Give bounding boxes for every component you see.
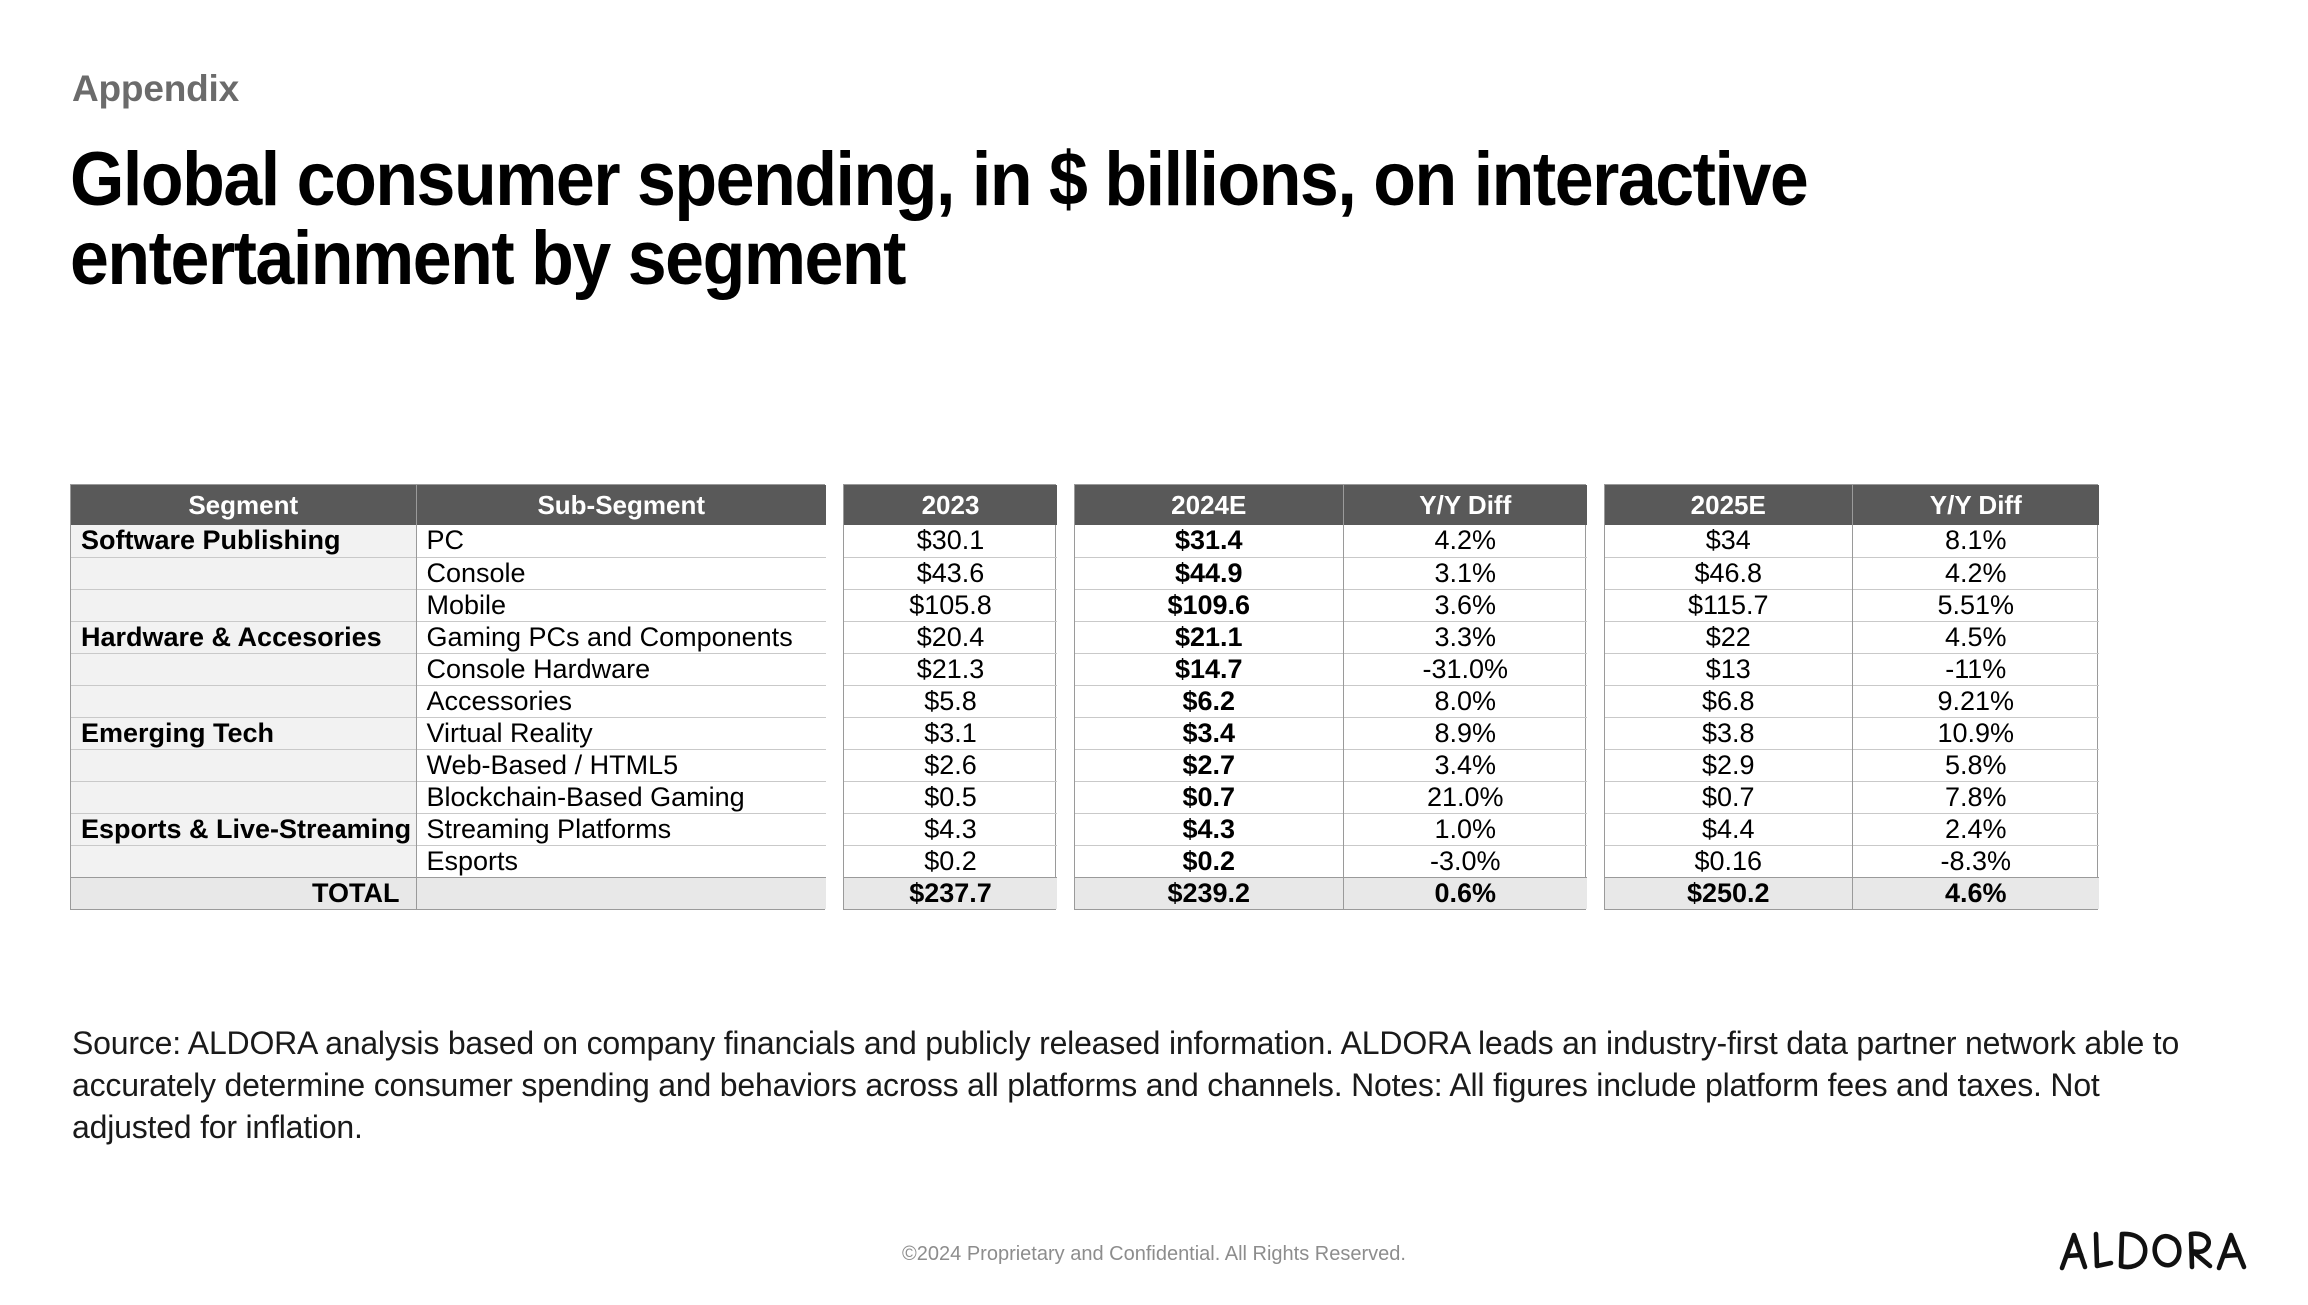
cell-2024e: $0.2 <box>1075 845 1343 877</box>
table-row: $30.1 <box>844 525 1057 557</box>
cell-yy-diff-2025: 10.9% <box>1852 717 2099 749</box>
table-row: Blockchain-Based Gaming <box>71 781 826 813</box>
cell-2023: $4.3 <box>844 813 1057 845</box>
table-header-row: Segment Sub-Segment <box>71 485 826 525</box>
cell-yy-diff-2024: 3.1% <box>1343 557 1587 589</box>
table-row: $115.75.51% <box>1605 589 2099 621</box>
cell-2025e: $13 <box>1605 653 1852 685</box>
table-total-row: $250.24.6% <box>1605 877 2099 909</box>
table-row: $2.73.4% <box>1075 749 1587 781</box>
data-table: Segment Sub-Segment Software PublishingP… <box>70 484 2230 924</box>
cell-yy-diff-2025: -11% <box>1852 653 2099 685</box>
cell-sub-segment: Web-Based / HTML5 <box>416 749 826 781</box>
cell-yy-diff-2024: 21.0% <box>1343 781 1587 813</box>
cell-total-2024e: $239.2 <box>1075 877 1343 909</box>
cell-yy-diff-2025: -8.3% <box>1852 845 2099 877</box>
table-row: $0.77.8% <box>1605 781 2099 813</box>
table-block-2023: 2023 $30.1$43.6$105.8$20.4$21.3$5.8$3.1$… <box>843 484 1056 910</box>
table-row: $6.28.0% <box>1075 685 1587 717</box>
column-header-sub-segment: Sub-Segment <box>416 485 826 525</box>
cell-yy-diff-2024: 1.0% <box>1343 813 1587 845</box>
table-row: Web-Based / HTML5 <box>71 749 826 781</box>
cell-2023: $3.1 <box>844 717 1057 749</box>
table-row: Accessories <box>71 685 826 717</box>
cell-2025e: $0.16 <box>1605 845 1852 877</box>
page-title: Global consumer spending, in $ billions,… <box>70 140 1910 298</box>
cell-total-yy-diff-2025: 4.6% <box>1852 877 2099 909</box>
table-row: $3.1 <box>844 717 1057 749</box>
cell-yy-diff-2025: 5.51% <box>1852 589 2099 621</box>
table-row: $21.13.3% <box>1075 621 1587 653</box>
table-row: Console <box>71 557 826 589</box>
aldora-logo <box>2056 1222 2256 1280</box>
cell-total-sub <box>416 877 826 909</box>
table-row: Mobile <box>71 589 826 621</box>
cell-yy-diff-2024: 3.6% <box>1343 589 1587 621</box>
cell-2023: $0.5 <box>844 781 1057 813</box>
cell-2025e: $0.7 <box>1605 781 1852 813</box>
cell-2023: $30.1 <box>844 525 1057 557</box>
table-body-2025e: $348.1%$46.84.2%$115.75.51%$224.5%$13-11… <box>1605 525 2099 909</box>
table-block-2024e: 2024E Y/Y Diff $31.44.2%$44.93.1%$109.63… <box>1074 484 1586 910</box>
cell-total-label: TOTAL <box>71 877 416 909</box>
cell-yy-diff-2024: 3.4% <box>1343 749 1587 781</box>
cell-segment <box>71 685 416 717</box>
cell-2023: $2.6 <box>844 749 1057 781</box>
table-row: $46.84.2% <box>1605 557 2099 589</box>
cell-total-2025e: $250.2 <box>1605 877 1852 909</box>
cell-yy-diff-2025: 4.2% <box>1852 557 2099 589</box>
column-header-yy-diff-2024: Y/Y Diff <box>1343 485 1587 525</box>
cell-2024e: $31.4 <box>1075 525 1343 557</box>
table-row: $105.8 <box>844 589 1057 621</box>
table-row: Esports <box>71 845 826 877</box>
cell-2024e: $4.3 <box>1075 813 1343 845</box>
cell-total-2023: $237.7 <box>844 877 1057 909</box>
table-row: $14.7-31.0% <box>1075 653 1587 685</box>
cell-2025e: $3.8 <box>1605 717 1852 749</box>
cell-yy-diff-2024: -31.0% <box>1343 653 1587 685</box>
cell-yy-diff-2024: 8.9% <box>1343 717 1587 749</box>
table-row: $0.2 <box>844 845 1057 877</box>
table-row: $0.5 <box>844 781 1057 813</box>
cell-yy-diff-2024: -3.0% <box>1343 845 1587 877</box>
cell-2023: $20.4 <box>844 621 1057 653</box>
cell-2024e: $6.2 <box>1075 685 1343 717</box>
table-row: Esports & Live-StreamingStreaming Platfo… <box>71 813 826 845</box>
cell-2024e: $3.4 <box>1075 717 1343 749</box>
cell-sub-segment: PC <box>416 525 826 557</box>
table-row: $13-11% <box>1605 653 2099 685</box>
table-row: $31.44.2% <box>1075 525 1587 557</box>
cell-yy-diff-2025: 7.8% <box>1852 781 2099 813</box>
table-row: Software PublishingPC <box>71 525 826 557</box>
cell-segment: Esports & Live-Streaming <box>71 813 416 845</box>
table-row: $0.16-8.3% <box>1605 845 2099 877</box>
cell-2023: $105.8 <box>844 589 1057 621</box>
cell-2024e: $109.6 <box>1075 589 1343 621</box>
cell-2025e: $22 <box>1605 621 1852 653</box>
table-row: $0.2-3.0% <box>1075 845 1587 877</box>
table-block-2025e: 2025E Y/Y Diff $348.1%$46.84.2%$115.75.5… <box>1604 484 2098 910</box>
column-header-segment: Segment <box>71 485 416 525</box>
source-note: Source: ALDORA analysis based on company… <box>72 1022 2212 1149</box>
table-row: $21.3 <box>844 653 1057 685</box>
cell-yy-diff-2025: 9.21% <box>1852 685 2099 717</box>
table-body-2023: $30.1$43.6$105.8$20.4$21.3$5.8$3.1$2.6$0… <box>844 525 1057 909</box>
cell-segment <box>71 845 416 877</box>
table-row: $224.5% <box>1605 621 2099 653</box>
table-header-row: 2024E Y/Y Diff <box>1075 485 1587 525</box>
cell-2025e: $34 <box>1605 525 1852 557</box>
table-row: $5.8 <box>844 685 1057 717</box>
cell-2024e: $21.1 <box>1075 621 1343 653</box>
table-header-row: 2023 <box>844 485 1057 525</box>
cell-segment <box>71 557 416 589</box>
column-header-2024e: 2024E <box>1075 485 1343 525</box>
cell-2023: $21.3 <box>844 653 1057 685</box>
table-block-segments: Segment Sub-Segment Software PublishingP… <box>70 484 825 910</box>
table-row: Emerging TechVirtual Reality <box>71 717 826 749</box>
cell-2023: $43.6 <box>844 557 1057 589</box>
cell-total-yy-diff-2024: 0.6% <box>1343 877 1587 909</box>
cell-yy-diff-2025: 5.8% <box>1852 749 2099 781</box>
cell-yy-diff-2024: 3.3% <box>1343 621 1587 653</box>
cell-sub-segment: Streaming Platforms <box>416 813 826 845</box>
cell-2024e: $44.9 <box>1075 557 1343 589</box>
cell-sub-segment: Esports <box>416 845 826 877</box>
cell-2025e: $4.4 <box>1605 813 1852 845</box>
table-row: $6.89.21% <box>1605 685 2099 717</box>
table-row: $348.1% <box>1605 525 2099 557</box>
table-row: $3.48.9% <box>1075 717 1587 749</box>
table-total-row: $239.20.6% <box>1075 877 1587 909</box>
cell-sub-segment: Gaming PCs and Components <box>416 621 826 653</box>
cell-2025e: $2.9 <box>1605 749 1852 781</box>
table-row: $4.3 <box>844 813 1057 845</box>
cell-sub-segment: Console <box>416 557 826 589</box>
cell-segment: Emerging Tech <box>71 717 416 749</box>
cell-2025e: $115.7 <box>1605 589 1852 621</box>
cell-sub-segment: Mobile <box>416 589 826 621</box>
cell-segment <box>71 749 416 781</box>
table-row: $4.42.4% <box>1605 813 2099 845</box>
cell-segment: Hardware & Accesories <box>71 621 416 653</box>
table-row: $2.95.8% <box>1605 749 2099 781</box>
column-header-yy-diff-2025: Y/Y Diff <box>1852 485 2099 525</box>
cell-yy-diff-2025: 8.1% <box>1852 525 2099 557</box>
column-header-2023: 2023 <box>844 485 1057 525</box>
cell-sub-segment: Virtual Reality <box>416 717 826 749</box>
table-row: $4.31.0% <box>1075 813 1587 845</box>
cell-yy-diff-2025: 4.5% <box>1852 621 2099 653</box>
table-total-row: $237.7 <box>844 877 1057 909</box>
cell-yy-diff-2025: 2.4% <box>1852 813 2099 845</box>
table-body-2024e: $31.44.2%$44.93.1%$109.63.6%$21.13.3%$14… <box>1075 525 1587 909</box>
table-total-row: TOTAL <box>71 877 826 909</box>
table-row: $43.6 <box>844 557 1057 589</box>
cell-2023: $0.2 <box>844 845 1057 877</box>
cell-2024e: $0.7 <box>1075 781 1343 813</box>
table-row: $109.63.6% <box>1075 589 1587 621</box>
cell-yy-diff-2024: 4.2% <box>1343 525 1587 557</box>
table-row: $20.4 <box>844 621 1057 653</box>
cell-2024e: $2.7 <box>1075 749 1343 781</box>
table-row: $44.93.1% <box>1075 557 1587 589</box>
cell-segment <box>71 781 416 813</box>
cell-segment <box>71 589 416 621</box>
cell-segment <box>71 653 416 685</box>
footer-copyright: ©2024 Proprietary and Confidential. All … <box>0 1243 2308 1266</box>
cell-sub-segment: Console Hardware <box>416 653 826 685</box>
column-header-2025e: 2025E <box>1605 485 1852 525</box>
cell-2025e: $6.8 <box>1605 685 1852 717</box>
cell-yy-diff-2024: 8.0% <box>1343 685 1587 717</box>
cell-2025e: $46.8 <box>1605 557 1852 589</box>
cell-sub-segment: Accessories <box>416 685 826 717</box>
eyebrow-label: Appendix <box>72 70 239 107</box>
cell-2023: $5.8 <box>844 685 1057 717</box>
table-row: $3.810.9% <box>1605 717 2099 749</box>
table-row: Hardware & AccesoriesGaming PCs and Comp… <box>71 621 826 653</box>
cell-2024e: $14.7 <box>1075 653 1343 685</box>
table-body-segments: Software PublishingPCConsoleMobileHardwa… <box>71 525 826 909</box>
table-row: $0.721.0% <box>1075 781 1587 813</box>
table-header-row: 2025E Y/Y Diff <box>1605 485 2099 525</box>
table-row: $2.6 <box>844 749 1057 781</box>
table-row: Console Hardware <box>71 653 826 685</box>
cell-sub-segment: Blockchain-Based Gaming <box>416 781 826 813</box>
cell-segment: Software Publishing <box>71 525 416 557</box>
